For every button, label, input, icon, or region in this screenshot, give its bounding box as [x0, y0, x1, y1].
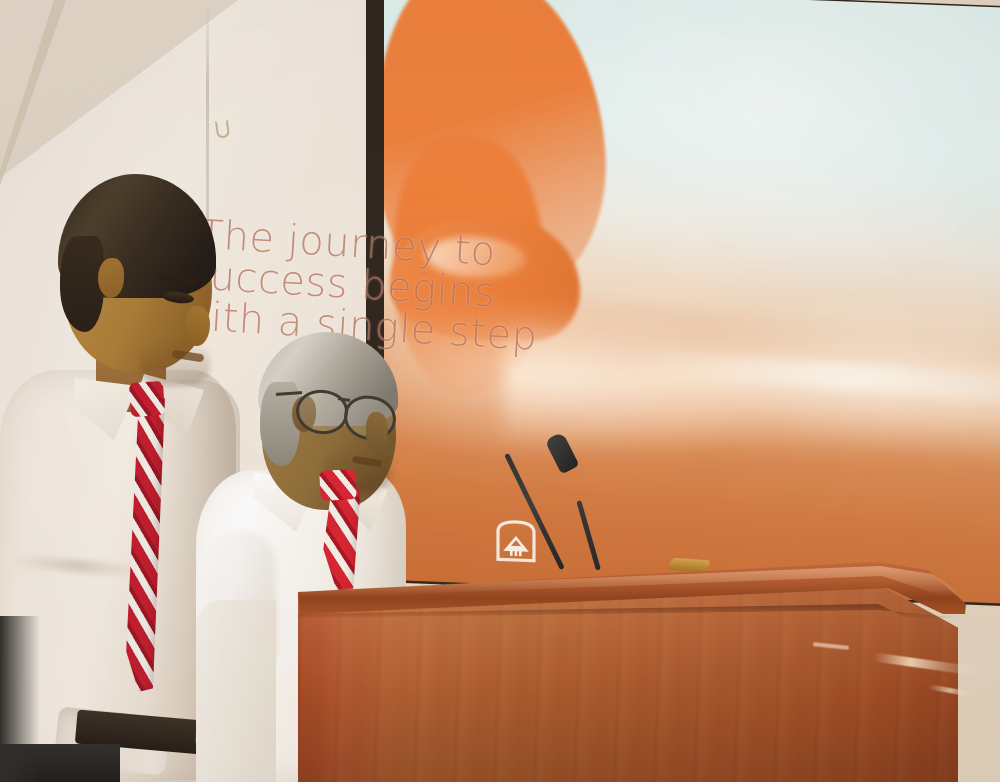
person-left-ear	[98, 258, 124, 298]
presentation-photo: The journey to success begins with a sin…	[0, 0, 1000, 782]
person-right-arm	[196, 600, 276, 782]
person-left-edge-shadow	[0, 616, 40, 782]
person-right-tie-knot	[319, 469, 357, 501]
podium	[288, 556, 968, 782]
person-left-chin-shadow	[140, 340, 210, 386]
slide-headline: The journey to success begins with a sin…	[193, 215, 649, 364]
person-left-tie-knot	[129, 381, 165, 417]
person-left-hair-side	[60, 236, 104, 332]
